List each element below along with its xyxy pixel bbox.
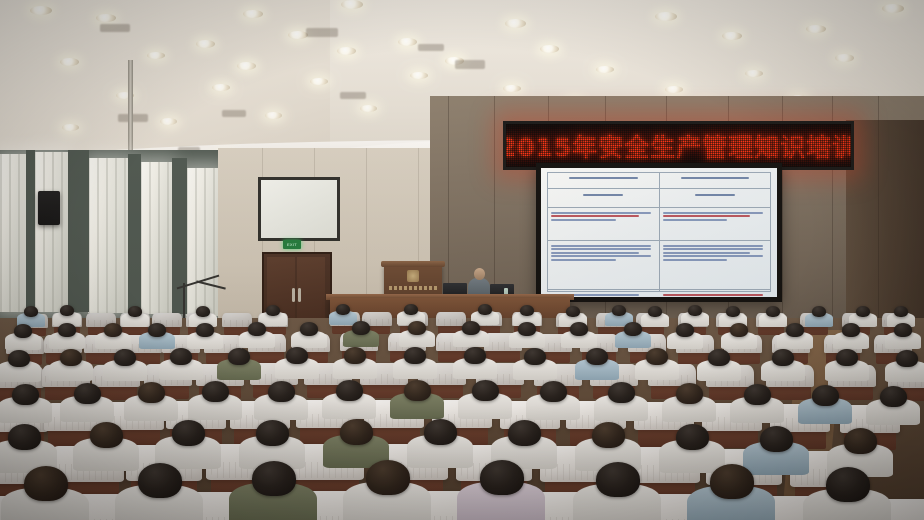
slide-column-right: [660, 173, 771, 291]
attendee-head: [586, 348, 608, 365]
window-blinds: [88, 158, 128, 313]
attendee-head: [896, 350, 918, 367]
window: [186, 168, 220, 316]
led-banner-screen: 2015年安全生产管理知识培训: [506, 124, 851, 167]
attendee-head: [336, 304, 350, 315]
attendee-head: [14, 324, 32, 338]
attendee-head: [24, 466, 68, 501]
attendee-head: [404, 304, 418, 315]
attendee-head: [836, 349, 858, 366]
attendee-head: [148, 323, 166, 337]
attendee-head: [842, 323, 860, 337]
attendee-head: [248, 322, 266, 336]
slide-col-left-section: [548, 194, 659, 208]
attendee-head: [508, 420, 541, 446]
window-mullion: [128, 154, 141, 312]
chair-seat-cover: [222, 313, 252, 327]
slide-comparison-table: [547, 172, 771, 292]
attendee-head: [520, 305, 534, 316]
chair-seat-cover: [436, 312, 466, 326]
attendee-head: [676, 424, 709, 450]
attendee-head: [256, 420, 289, 446]
attendee-head: [710, 464, 754, 499]
slide-cell-r1: [660, 208, 771, 241]
slide-col-left-header: [548, 177, 659, 189]
attendee-head: [170, 348, 192, 365]
window-blinds: [186, 168, 220, 316]
attendee-head: [300, 322, 318, 336]
attendee-head: [58, 323, 76, 337]
attendee-head: [366, 460, 410, 495]
attendee-head: [608, 382, 635, 403]
attendee-head: [676, 323, 694, 337]
attendee-head: [612, 305, 626, 316]
slide-content: [541, 168, 777, 297]
attendee-head: [688, 305, 702, 316]
attendee-head: [592, 422, 625, 448]
attendee-head: [812, 306, 826, 317]
slide-cell-l1: [548, 208, 659, 241]
window-mullion: [26, 150, 35, 312]
attendee-head: [74, 383, 101, 404]
chair-wood-frame: [769, 385, 811, 399]
attendee-head: [464, 347, 486, 364]
slide-cell-r2: [660, 241, 771, 290]
attendee-head: [894, 323, 912, 337]
attendee-head: [8, 350, 30, 367]
window: [140, 162, 172, 314]
attendee-head: [648, 306, 662, 317]
slide-column-left: [548, 173, 660, 291]
speaker-head: [474, 268, 485, 280]
window-blinds: [140, 162, 172, 314]
attendee-head: [138, 382, 165, 403]
window: [34, 152, 68, 312]
attendee-head: [826, 467, 870, 502]
window-mullion: [68, 150, 89, 312]
attendee-head: [730, 323, 748, 337]
attendee-head: [202, 381, 229, 402]
attendee-head: [172, 420, 205, 446]
attendee-head: [786, 323, 804, 337]
attendee-head: [726, 306, 740, 317]
attendee-head: [856, 306, 870, 317]
attendee-head: [104, 323, 122, 337]
attendee-head: [708, 349, 730, 366]
attendee-head: [624, 322, 642, 336]
ceiling-vent: [455, 60, 485, 69]
attendee-head: [744, 384, 771, 405]
attendee-head: [566, 306, 580, 317]
attendee-head: [128, 306, 142, 317]
audience-seating: [0, 300, 924, 520]
attendee-head: [340, 419, 373, 445]
attendee-head: [772, 349, 794, 366]
attendee-head: [60, 349, 82, 366]
exit-sign-icon: EXIT: [283, 240, 301, 249]
attendee-head: [408, 321, 426, 335]
attendee-head: [352, 321, 370, 335]
window: [88, 158, 128, 313]
attendee-head: [138, 463, 182, 498]
attendee-head: [196, 323, 214, 337]
attendee-head: [404, 347, 426, 364]
window-blinds: [34, 152, 68, 312]
slide-cell-r3: [660, 290, 771, 297]
attendee-head: [268, 381, 295, 402]
attendee-head: [114, 349, 136, 366]
ceiling-vent: [340, 92, 366, 99]
attendee-head: [472, 380, 499, 401]
attendee-head: [596, 462, 640, 497]
attendee-head: [196, 306, 210, 317]
attendee-head: [524, 348, 546, 365]
attendee-head: [812, 385, 839, 406]
projection-screen: [536, 163, 782, 302]
attendee-head: [844, 428, 877, 454]
attendee-head: [646, 348, 668, 365]
exit-sign-label: EXIT: [283, 240, 301, 249]
ceiling-vent: [100, 24, 130, 32]
podium-nameplate: [389, 286, 437, 290]
attendee-head: [12, 384, 39, 405]
attendee-head: [336, 380, 363, 401]
attendee-head: [8, 424, 41, 450]
attendee-head: [228, 348, 250, 365]
ceiling-vent: [118, 114, 148, 122]
attendee-head: [518, 322, 536, 336]
window-blinds: [0, 154, 26, 312]
attendee-head: [480, 460, 524, 495]
whiteboard: [258, 177, 340, 241]
attendee-head: [540, 381, 567, 402]
slide-col-right-section: [660, 194, 771, 208]
attendee-head: [266, 305, 280, 316]
attendee-head: [344, 347, 366, 364]
ceiling-vent: [222, 110, 246, 117]
ceiling-vent: [418, 44, 444, 51]
attendee-head: [570, 322, 588, 336]
podium-emblem: [407, 270, 419, 282]
attendee-head: [424, 419, 457, 445]
attendee-head: [894, 306, 908, 317]
attendee-head: [676, 383, 703, 404]
attendee-head: [404, 380, 431, 401]
podium-top-surface: [381, 261, 445, 267]
slide-col-right-header: [660, 177, 771, 189]
attendee-head: [478, 304, 492, 315]
slide-cell-l2: [548, 241, 659, 290]
attendee-head: [462, 321, 480, 335]
led-banner-text: 2015年安全生产管理知识培训: [506, 128, 851, 164]
attendee-head: [90, 422, 123, 448]
attendee-head: [60, 305, 74, 316]
attendee-head: [766, 306, 780, 317]
loudspeaker-icon: [38, 191, 60, 225]
window: [0, 154, 26, 312]
attendee-head: [880, 386, 907, 407]
attendee-head: [760, 426, 793, 452]
conference-hall-photo: EXIT 2015年安全生产管理知识培训: [0, 0, 924, 520]
attendee-head: [24, 306, 38, 317]
attendee-head: [286, 347, 308, 364]
attendee-head: [252, 461, 296, 496]
ceiling-vent: [306, 28, 338, 37]
